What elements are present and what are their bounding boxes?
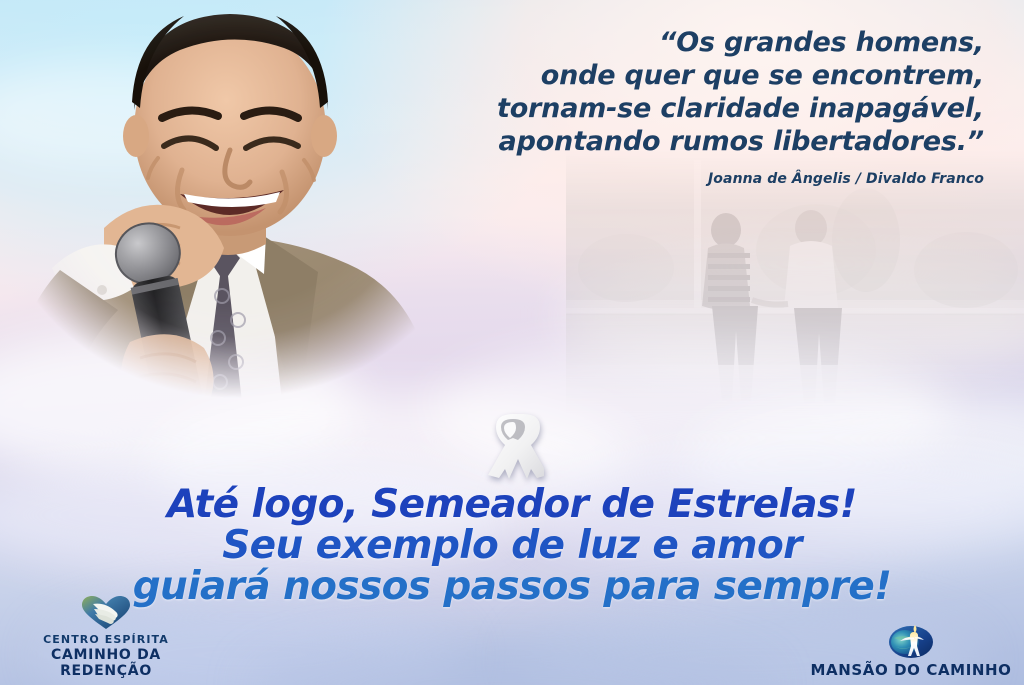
heart-hands-icon bbox=[8, 595, 204, 631]
white-ribbon-icon bbox=[482, 408, 544, 482]
quote-line-1: “Os grandes homens, bbox=[344, 26, 984, 59]
quote-line-3: tornam-se claridade inapagável, bbox=[344, 92, 984, 125]
logo-left-line-1: CENTRO ESPÍRITA bbox=[8, 633, 204, 646]
logo-mansao-do-caminho: MANSÃO DO CAMINHO bbox=[806, 623, 1016, 679]
headline-line-2: Seu exemplo de luz e amor bbox=[0, 525, 1024, 566]
quote-block: “Os grandes homens, onde quer que se enc… bbox=[344, 26, 984, 187]
background-photo bbox=[566, 150, 1024, 425]
globe-figure-icon bbox=[806, 623, 1016, 659]
headline-block: Até logo, Semeador de Estrelas! Seu exem… bbox=[0, 484, 1024, 607]
headline-line-1: Até logo, Semeador de Estrelas! bbox=[0, 484, 1024, 525]
memorial-poster: “Os grandes homens, onde quer que se enc… bbox=[0, 0, 1024, 685]
logo-right-line-2: MANSÃO DO CAMINHO bbox=[806, 661, 1016, 679]
logo-centro-espirita: CENTRO ESPÍRITA CAMINHO DA REDENÇÃO bbox=[8, 595, 204, 679]
quote-line-2: onde quer que se encontrem, bbox=[344, 59, 984, 92]
logo-left-line-2: CAMINHO DA REDENÇÃO bbox=[8, 647, 204, 679]
quote-line-4: apontando rumos libertadores.” bbox=[344, 125, 984, 158]
quote-attribution: Joanna de Ângelis / Divaldo Franco bbox=[344, 171, 984, 187]
